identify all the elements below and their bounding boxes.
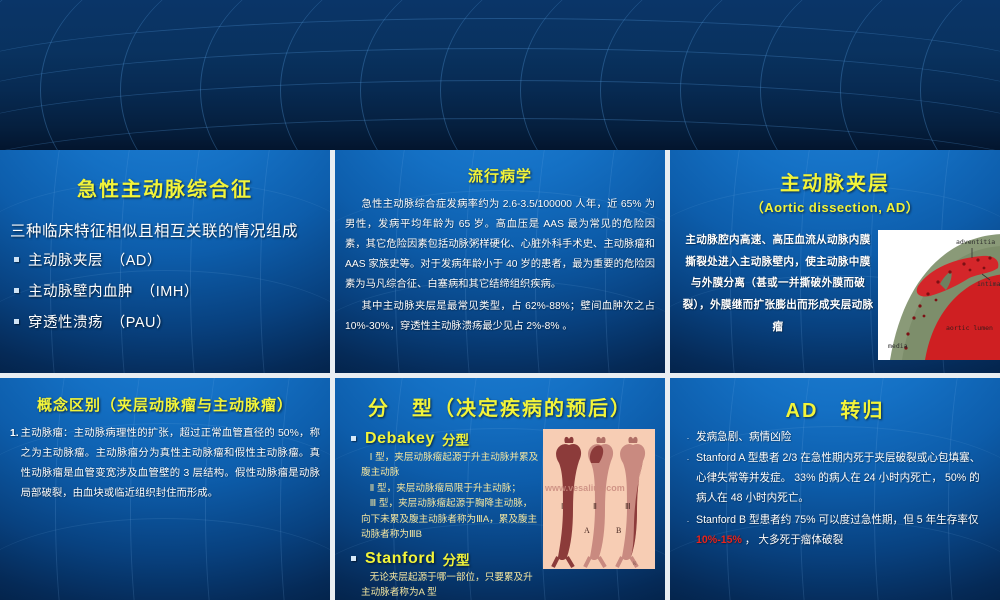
group-label-en: Stanford — [365, 550, 436, 568]
bullet-dot-icon: · — [680, 448, 696, 509]
list-item-label: 主动脉夹层 （AD） — [28, 249, 162, 270]
detail-line: Ⅲ 型，夹层动脉瘤起源于胸降主动脉，向下未累及腹主动脉者称为ⅢA，累及腹主动脉者… — [361, 496, 540, 543]
epidemiology-paragraph: 其中主动脉夹层是最常见类型，占 62%-88%；壁间血肿次之占 10%-30%，… — [345, 297, 655, 337]
panel-title-ad-prognosis: AD 转归 — [680, 394, 990, 423]
list-item: · 发病急剧、病情凶险 — [680, 427, 990, 447]
list-item: 穿透性溃疡 （PAU） — [14, 311, 320, 332]
figure-signature: ᴋ — [633, 559, 637, 567]
panel-ad-prognosis[interactable]: AD 转归 · 发病急剧、病情凶险 · Stanford A 型患者 2/3 在… — [670, 378, 1000, 600]
label-media: media — [888, 342, 908, 350]
slide-panel-grid: 急性主动脉综合征 三种临床特征相似且相互关联的情况组成 主动脉夹层 （AD） 主… — [0, 150, 1000, 600]
group-heading: Debakey 分型 — [351, 429, 540, 449]
bullet-dot-icon: · — [680, 510, 696, 551]
bullet-square-icon — [351, 556, 356, 561]
figure-watermark: www.vesalius.com — [544, 483, 625, 493]
detail-line: Ⅱ 型，夹层动脉瘤局限于升主动脉； — [361, 481, 540, 497]
panel-title-acute-syndrome: 急性主动脉综合征 — [10, 173, 320, 202]
figure-stanford-label-a: A — [584, 526, 590, 535]
panel-acute-aortic-syndrome[interactable]: 急性主动脉综合征 三种临床特征相似且相互关联的情况组成 主动脉夹层 （AD） 主… — [0, 150, 330, 373]
aortic-dissection-body: 主动脉腔内高速、高压血流从动脉内膜撕裂处进入主动脉壁内，使主动脉中膜与外膜分离（… — [680, 230, 876, 360]
debakey-types-figure: www.vesalius.com Ⅰ Ⅱ Ⅲ A B ᴋ — [543, 429, 655, 569]
panel-title-classification: 分 型（决定疾病的预后） — [345, 392, 655, 421]
aorta-dissection-illustration: adventitia intima media aortic lumen — [878, 230, 1000, 360]
figure-type-label-3: Ⅲ — [625, 502, 631, 511]
panel-concept-difference[interactable]: 概念区别（夹层动脉瘤与主动脉瘤） 1. 主动脉瘤：主动脉病理性的扩张，超过正常血… — [0, 378, 330, 600]
label-aortic-lumen: aortic lumen — [946, 324, 993, 332]
slide-top-banner — [0, 0, 1000, 150]
figure-type-label-2: Ⅱ — [593, 502, 597, 511]
bullet-square-icon — [14, 319, 19, 324]
acute-syndrome-bullet-list: 主动脉夹层 （AD） 主动脉壁内血肿 （IMH） 穿透性溃疡 （PAU） — [10, 249, 320, 332]
classification-group-stanford: Stanford 分型 无论夹层起源于哪一部位，只要累及升主动脉者称为A 型 夹… — [345, 549, 540, 600]
group-label-cn: 分型 — [443, 549, 470, 569]
list-item-text: 发病急剧、病情凶险 — [696, 427, 990, 447]
banner-globe-grid — [0, 0, 1000, 150]
bullet-dot-icon: · — [680, 427, 696, 447]
group-heading: Stanford 分型 — [351, 549, 540, 569]
list-item-text: Stanford A 型患者 2/3 在急性期内死于夹层破裂或心包填塞、心律失常… — [696, 448, 990, 509]
panel-epidemiology[interactable]: 流行病学 急性主动脉综合症发病率约为 2.6-3.5/100000 人年，近 6… — [335, 150, 665, 373]
label-adventitia: adventitia — [956, 238, 995, 246]
concept-difference-body: 1. 主动脉瘤：主动脉病理性的扩张，超过正常血管直径的 50%，称之为主动脉瘤。… — [10, 424, 320, 505]
list-item-index: 1. — [10, 424, 21, 505]
acute-syndrome-lead-text: 三种临床特征相似且相互关联的情况组成 — [10, 219, 320, 241]
panel-subtitle-aortic-dissection: （Aortic dissection, AD） — [680, 197, 990, 216]
list-item-label: 主动脉壁内血肿 （IMH） — [28, 280, 199, 301]
group-label-cn: 分型 — [442, 429, 469, 449]
highlighted-survival-rate: 10%-15% — [696, 534, 742, 546]
list-item: · Stanford B 型患者约 75% 可以度过急性期，但 5 年生存率仅 … — [680, 510, 990, 551]
stanford-detail-lines: 无论夹层起源于哪一部位，只要累及升主动脉者称为A 型 夹层起源于胸降主动脉且未累… — [361, 570, 540, 600]
ad-prognosis-list: · 发病急剧、病情凶险 · Stanford A 型患者 2/3 在急性期内死于… — [680, 427, 990, 551]
list-item: 1. 主动脉瘤：主动脉病理性的扩张，超过正常血管直径的 50%，称之为主动脉瘤。… — [10, 424, 320, 505]
list-item: · Stanford A 型患者 2/3 在急性期内死于夹层破裂或心包填塞、心律… — [680, 448, 990, 509]
slide-canvas: 急性主动脉综合征 三种临床特征相似且相互关联的情况组成 主动脉夹层 （AD） 主… — [0, 0, 1000, 600]
group-label-en: Debakey — [365, 430, 435, 448]
classification-group-debakey: Debakey 分型 Ⅰ 型，夹层动脉瘤起源于升主动脉并累及腹主动脉 Ⅱ 型，夹… — [345, 429, 540, 543]
bullet-square-icon — [14, 288, 19, 293]
list-item-text-highlighted: Stanford B 型患者约 75% 可以度过急性期，但 5 年生存率仅 10… — [696, 510, 990, 551]
debakey-types-illustration: www.vesalius.com Ⅰ Ⅱ Ⅲ A B ᴋ — [543, 429, 655, 569]
list-item: 主动脉夹层 （AD） — [14, 249, 320, 270]
bullet-square-icon — [14, 257, 19, 262]
panel-title-epidemiology: 流行病学 — [345, 165, 655, 186]
list-item-text: 主动脉瘤：主动脉病理性的扩张，超过正常血管直径的 50%，称之为主动脉瘤。主动脉… — [21, 424, 320, 505]
epidemiology-body: 急性主动脉综合症发病率约为 2.6-3.5/100000 人年，近 65% 为男… — [345, 195, 655, 338]
list-item-label: 穿透性溃疡 （PAU） — [28, 311, 171, 332]
detail-line: Ⅰ 型，夹层动脉瘤起源于升主动脉并累及腹主动脉 — [361, 450, 540, 481]
panel-title-aortic-dissection: 主动脉夹层 — [680, 167, 990, 196]
aorta-cross-section-figure: adventitia intima media aortic lumen — [878, 230, 1000, 360]
classification-groups: Debakey 分型 Ⅰ 型，夹层动脉瘤起源于升主动脉并累及腹主动脉 Ⅱ 型，夹… — [345, 426, 543, 600]
debakey-detail-lines: Ⅰ 型，夹层动脉瘤起源于升主动脉并累及腹主动脉 Ⅱ 型，夹层动脉瘤局限于升主动脉… — [361, 450, 540, 543]
detail-line: 无论夹层起源于哪一部位，只要累及升主动脉者称为A 型 — [361, 570, 540, 600]
figure-stanford-label-b: B — [616, 526, 621, 535]
panel-classification[interactable]: 分 型（决定疾病的预后） Debakey 分型 Ⅰ 型，夹层动脉瘤起源于升主动脉… — [335, 378, 665, 600]
panel-aortic-dissection[interactable]: 主动脉夹层 （Aortic dissection, AD） 主动脉腔内高速、高压… — [670, 150, 1000, 373]
panel-title-concept-difference: 概念区别（夹层动脉瘤与主动脉瘤） — [10, 394, 320, 415]
list-item: 主动脉壁内血肿 （IMH） — [14, 280, 320, 301]
figure-type-label-1: Ⅰ — [561, 502, 563, 511]
epidemiology-paragraph: 急性主动脉综合症发病率约为 2.6-3.5/100000 人年，近 65% 为男… — [345, 195, 655, 295]
bullet-square-icon — [351, 436, 356, 441]
label-intima: intima — [977, 280, 1000, 288]
